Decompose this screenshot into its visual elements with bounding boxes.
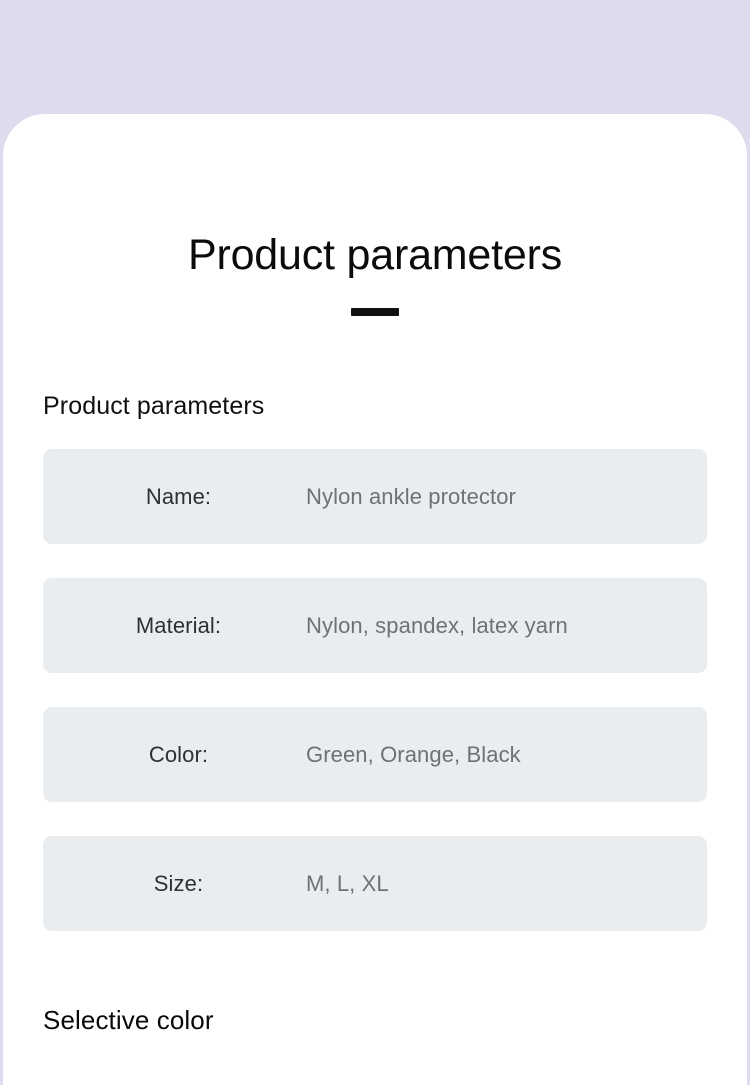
title-underline-rule bbox=[351, 308, 399, 316]
parameters-section: Product parameters Name: Nylon ankle pro… bbox=[3, 392, 747, 1036]
parameter-label: Size: bbox=[51, 871, 306, 897]
content-card: Product parameters Product parameters Na… bbox=[3, 114, 747, 1085]
parameter-label: Material: bbox=[51, 613, 306, 639]
parameter-value: Nylon ankle protector bbox=[306, 484, 699, 510]
parameter-list: Name: Nylon ankle protector Material: Ny… bbox=[43, 449, 707, 931]
parameter-label: Color: bbox=[51, 742, 306, 768]
parameter-label: Name: bbox=[51, 484, 306, 510]
parameter-row-name: Name: Nylon ankle protector bbox=[43, 449, 707, 544]
parameter-value: Green, Orange, Black bbox=[306, 742, 699, 768]
parameter-value: Nylon, spandex, latex yarn bbox=[306, 613, 699, 639]
parameter-value: M, L, XL bbox=[306, 871, 699, 897]
selective-color-section-heading: Selective color bbox=[43, 1005, 707, 1036]
parameter-row-material: Material: Nylon, spandex, latex yarn bbox=[43, 578, 707, 673]
hero-block: Product parameters bbox=[3, 114, 747, 316]
product-parameters-page: Product parameters Product parameters Na… bbox=[0, 0, 750, 1085]
page-title: Product parameters bbox=[3, 232, 747, 279]
parameter-row-color: Color: Green, Orange, Black bbox=[43, 707, 707, 802]
parameter-row-size: Size: M, L, XL bbox=[43, 836, 707, 931]
parameters-section-heading: Product parameters bbox=[43, 392, 707, 421]
